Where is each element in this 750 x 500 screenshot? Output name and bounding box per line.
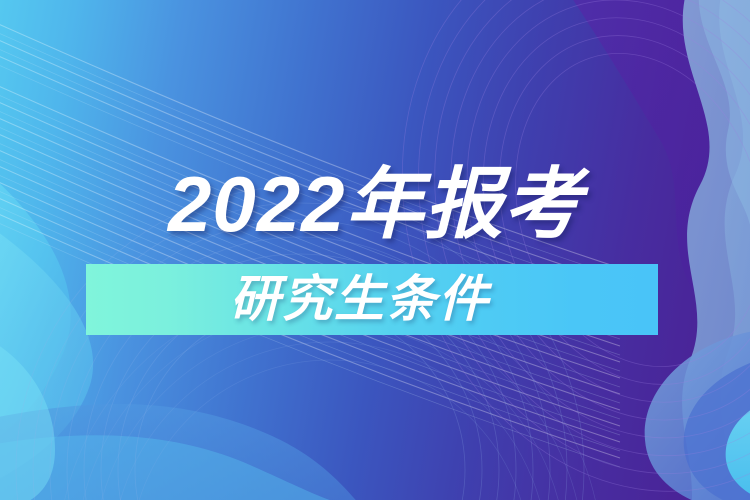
- banner-title: 2022年报考: [168, 160, 583, 248]
- banner-subtitle: 研究生条件: [230, 268, 530, 330]
- promo-banner: 2022年报考 研究生条件: [0, 0, 750, 500]
- background-artwork: [0, 0, 750, 500]
